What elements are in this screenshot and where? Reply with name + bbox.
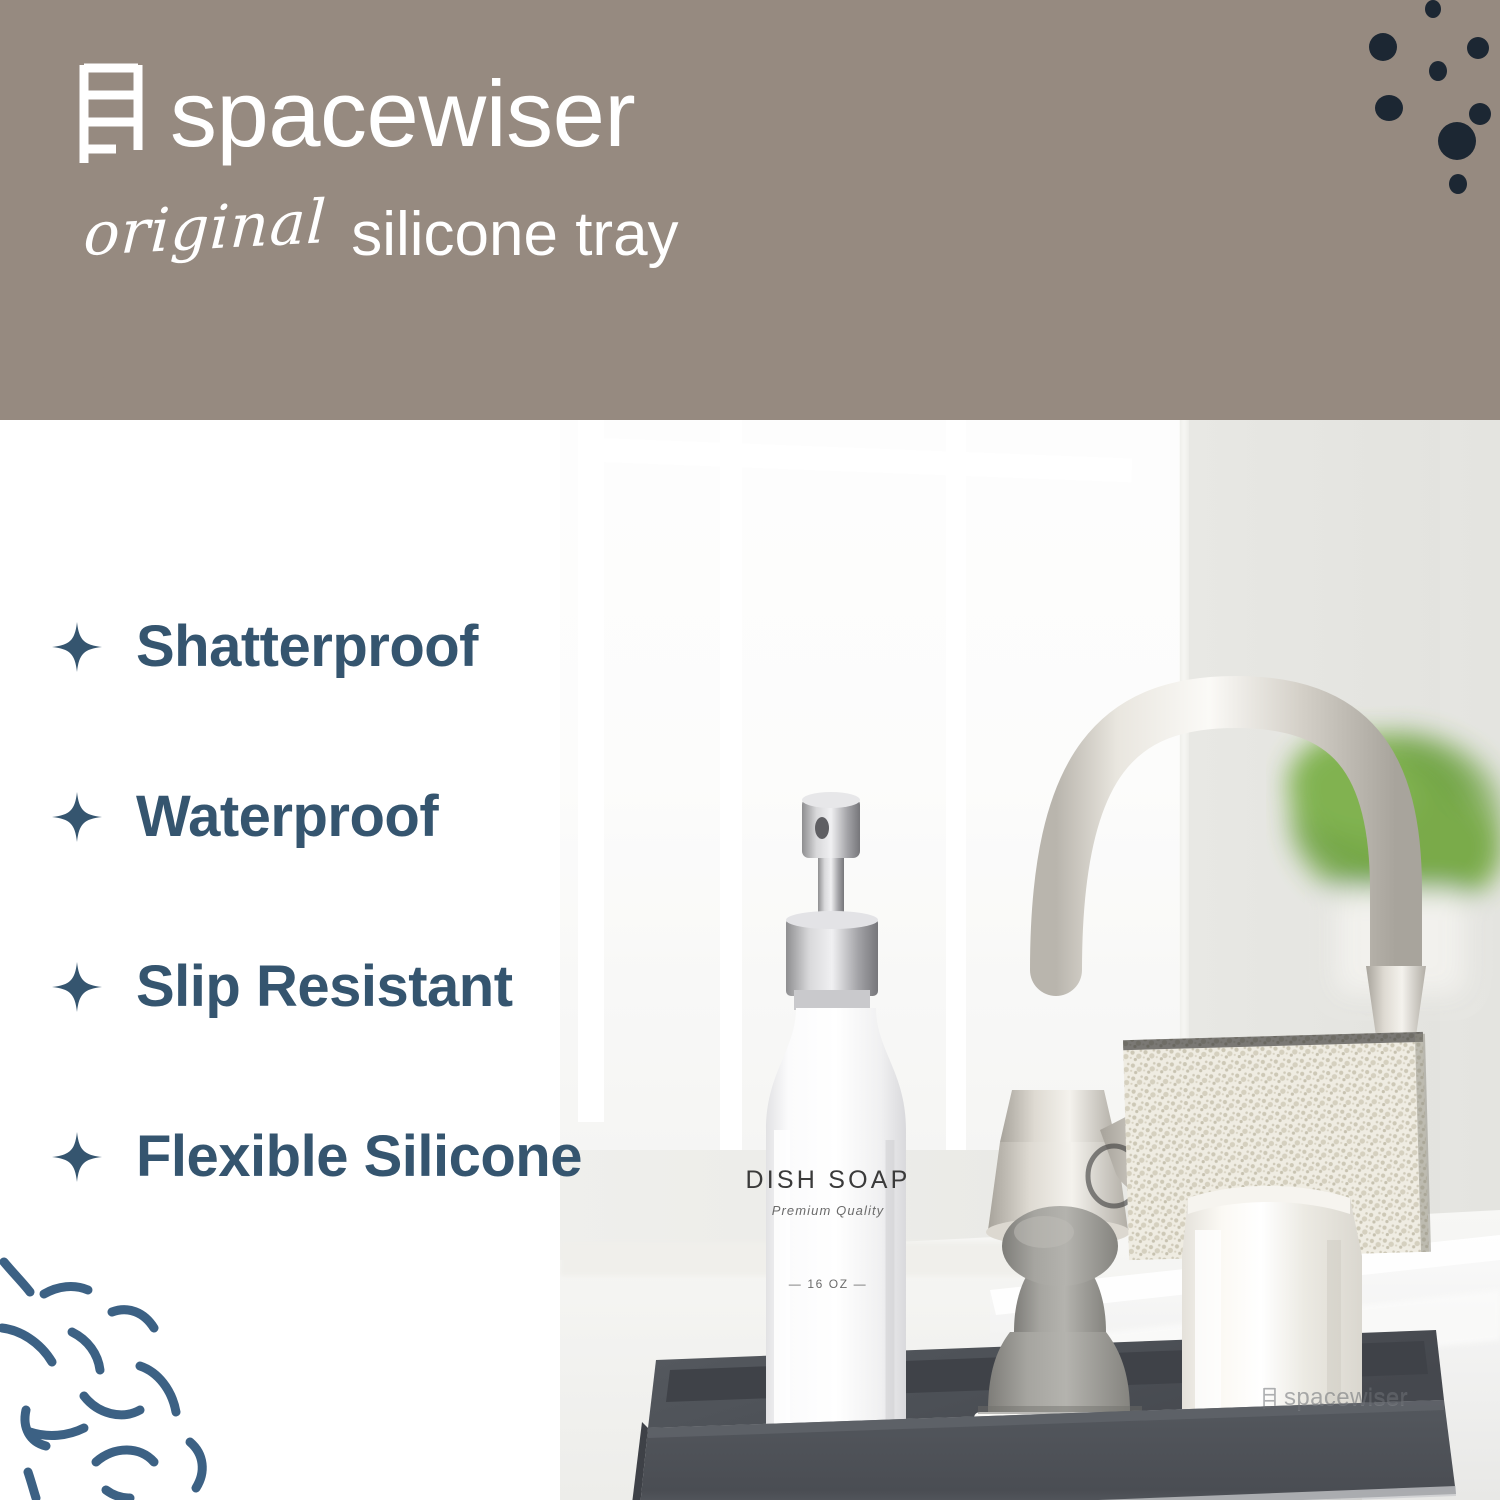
sparkle-icon <box>52 962 102 1012</box>
brand-name: spacewiser <box>170 67 635 161</box>
sparkle-icon <box>52 792 102 842</box>
feature-label: Waterproof <box>136 788 438 846</box>
brush-strokes-decoration <box>0 1250 250 1500</box>
feature-list: Shatterproof Waterproof Slip Resistant F… <box>52 562 692 1242</box>
brand-header: spacewiser original silicone tray <box>78 55 978 270</box>
product-marketing-image: DISH SOAP Premium Quality — 16 OZ — spac… <box>0 0 1500 1500</box>
feature-item: Waterproof <box>52 732 692 902</box>
ladder-shelf-icon <box>78 62 144 166</box>
tagline-plain: silicone tray <box>351 199 678 270</box>
soap-label-size: — 16 OZ — <box>728 1278 928 1290</box>
logo-row: spacewiser <box>78 55 978 173</box>
sparkle-icon <box>52 1132 102 1182</box>
feature-label: Shatterproof <box>136 618 478 676</box>
tagline-script: original <box>82 187 329 270</box>
feature-item: Flexible Silicone <box>52 1072 692 1242</box>
tagline-row: original silicone tray <box>82 199 978 270</box>
feature-item: Slip Resistant <box>52 902 692 1072</box>
sparkle-icon <box>52 622 102 672</box>
feature-item: Shatterproof <box>52 562 692 732</box>
feature-label: Slip Resistant <box>136 958 513 1016</box>
product-photo <box>560 330 1500 1500</box>
ladder-shelf-icon <box>1262 1387 1277 1410</box>
tray-brand-text: spacewiser <box>1284 1386 1408 1410</box>
tray-brand-mark: spacewiser <box>1262 1386 1408 1410</box>
feature-label: Flexible Silicone <box>136 1128 582 1186</box>
dots-decoration <box>1320 0 1500 210</box>
